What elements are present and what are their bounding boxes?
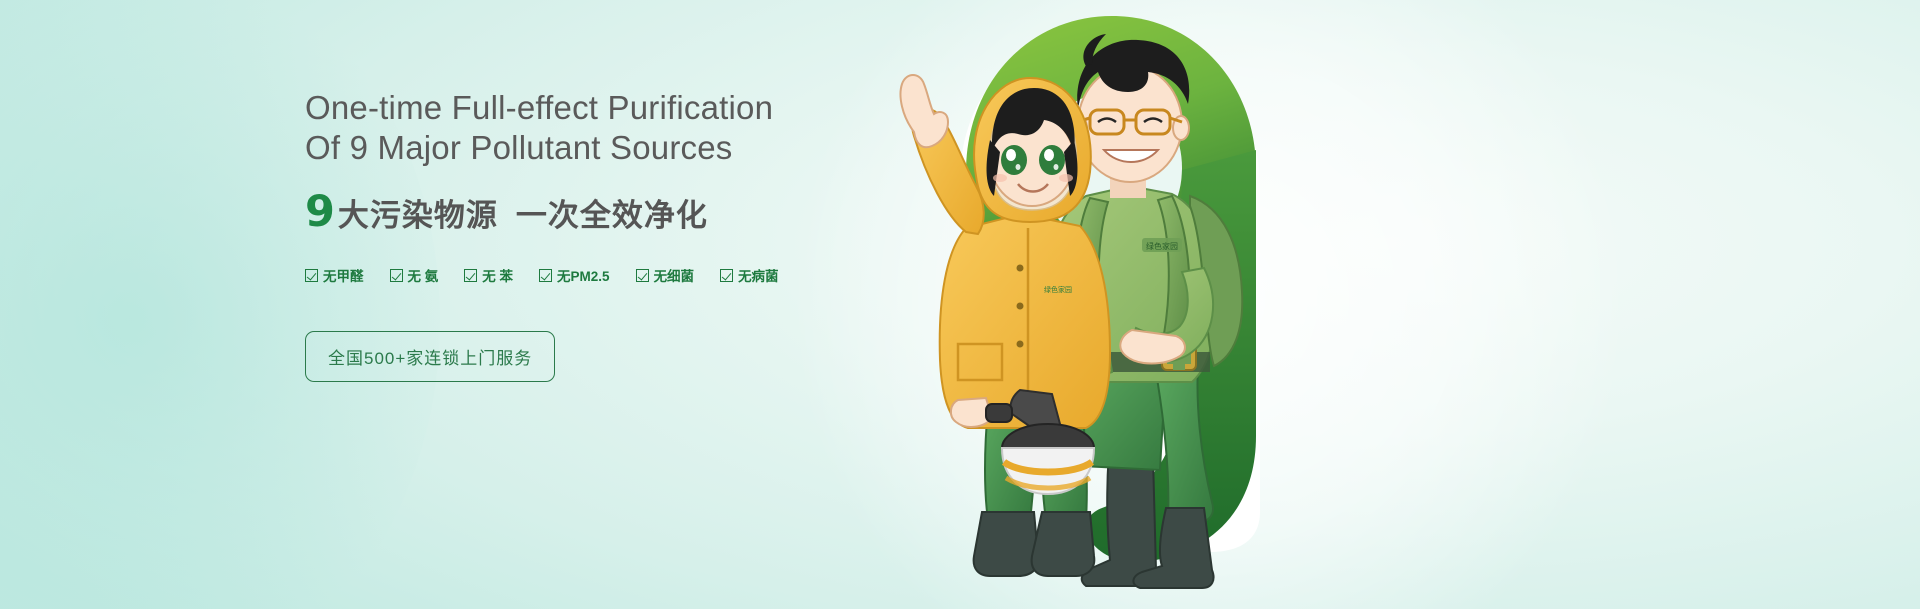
feature-item-formaldehyde: 无甲醛: [305, 265, 364, 285]
checkbox-tick-icon: [720, 269, 733, 282]
thumbs-up-hand: [901, 75, 949, 147]
feature-label: 无PM2.5: [557, 265, 610, 285]
feature-item-pm25: 无PM2.5: [539, 265, 610, 285]
feature-label: 无病菌: [738, 265, 779, 285]
checkbox-tick-icon: [636, 269, 649, 282]
feature-item-bacteria: 无细菌: [636, 265, 695, 285]
checkbox-tick-icon: [390, 269, 403, 282]
feature-item-ammonia: 无 氨: [390, 265, 439, 285]
child-eye-left: [1001, 145, 1027, 175]
cta-button-nationwide-service[interactable]: 全国500+家连锁上门服务: [305, 331, 555, 382]
feature-item-pathogens: 无病菌: [720, 265, 779, 285]
uniform-badge-text: 绿色家园: [1146, 241, 1178, 251]
headline-chinese-part-a: 大污染物源: [338, 190, 498, 235]
checkbox-tick-icon: [305, 269, 318, 282]
child-figure: 绿色家园: [901, 75, 1111, 576]
checkbox-tick-icon: [464, 269, 477, 282]
promo-banner: One-time Full-effect Purification Of 9 M…: [0, 0, 1920, 609]
feature-label: 无细菌: [654, 265, 695, 285]
hero-illustration: 绿色家园: [790, 0, 1430, 609]
headline-chinese-part-b: 一次全效净化: [516, 190, 708, 235]
raincoat-badge-text: 绿色家园: [1044, 285, 1072, 294]
feature-item-benzene: 无 苯: [464, 265, 513, 285]
feature-label: 无 氨: [408, 265, 439, 285]
checkbox-tick-icon: [539, 269, 552, 282]
child-eye-right: [1039, 145, 1065, 175]
headline-number-9: 9: [305, 191, 336, 234]
feature-label: 无甲醛: [323, 265, 364, 285]
feature-label: 无 苯: [482, 265, 513, 285]
